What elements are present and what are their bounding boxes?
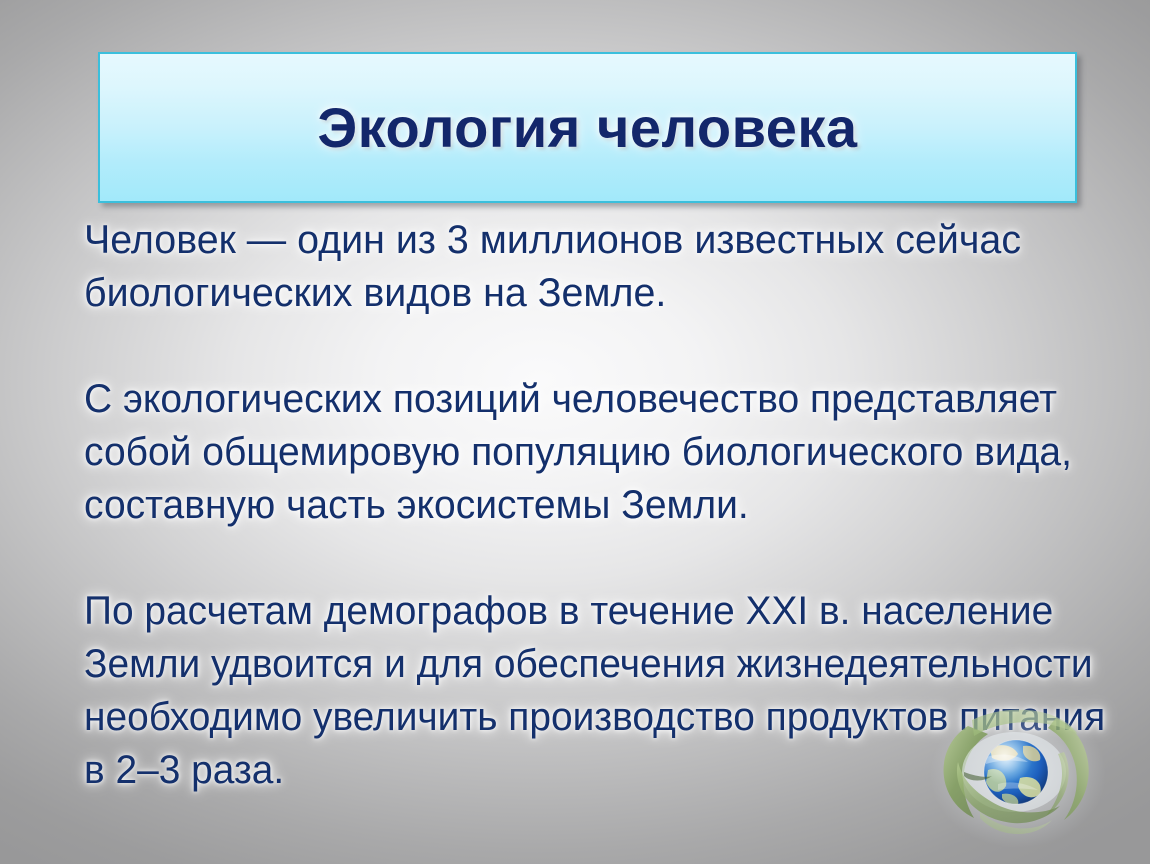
body-paragraph-1: Человек — один из 3 миллионов известных … <box>84 214 1114 320</box>
body-paragraph-3: По расчетам демографов в течение XXI в. … <box>84 585 1114 797</box>
paragraph-line: биологических видов на Земле. <box>84 267 1099 320</box>
paragraph-line: в 2–3 раза. <box>84 744 1085 797</box>
page-title: Экология человека <box>317 97 857 159</box>
paragraph-line: По расчетам демографов в течение XXI в. … <box>84 585 1085 638</box>
paragraph-line: необходимо увеличить производство продук… <box>84 691 1085 744</box>
slide-body-content: Человек — один из 3 миллионов известных … <box>84 214 1114 797</box>
paragraph-line: Человек — один из 3 миллионов известных … <box>84 214 1099 267</box>
presentation-slide: Экология человека Человек — один из 3 ми… <box>0 0 1150 864</box>
paragraph-line: составную часть экосистемы Земли. <box>84 479 1088 532</box>
body-paragraph-2: С экологических позиций человечество пре… <box>84 373 1114 532</box>
leaf-shape-bottom <box>980 812 1052 834</box>
paragraph-line: С экологических позиций человечество пре… <box>84 373 1088 426</box>
paragraph-line: Земли удвоится и для обеспечения жизнеде… <box>84 638 1085 691</box>
slide-title-box: Экология человека <box>98 52 1077 203</box>
paragraph-line: собой общемировую популяцию биологическо… <box>84 426 1088 479</box>
